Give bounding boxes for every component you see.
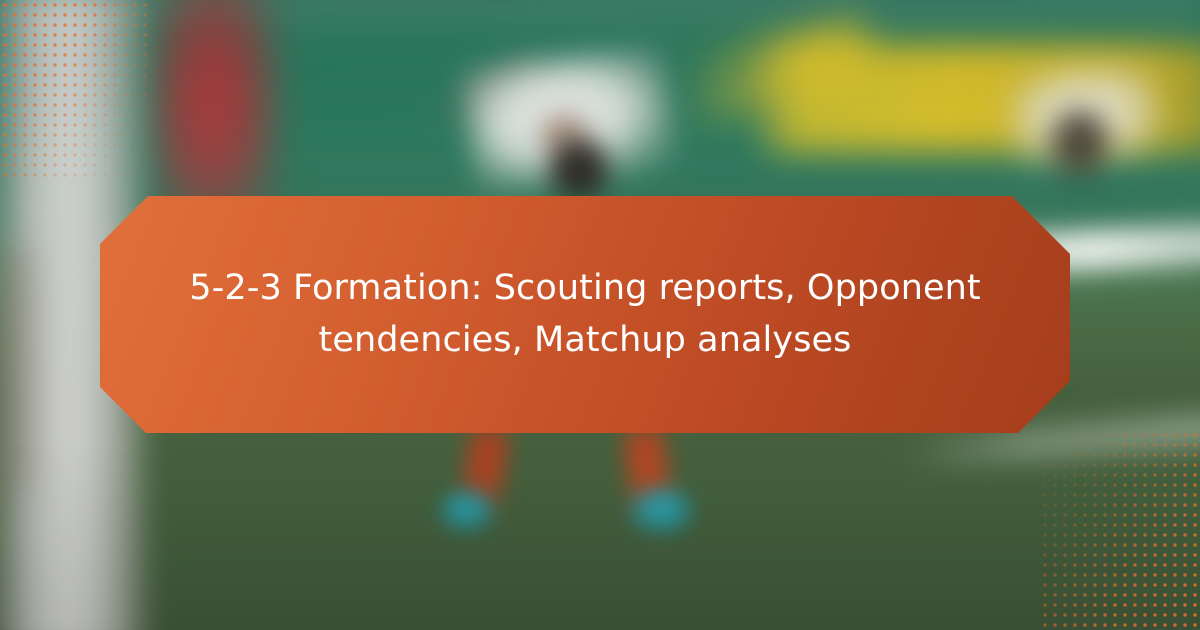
title-banner: 5-2-3 Formation: Scouting reports, Oppon… (100, 196, 1070, 433)
page-title: 5-2-3 Formation: Scouting reports, Oppon… (185, 263, 985, 367)
social-card: 5-2-3 Formation: Scouting reports, Oppon… (0, 0, 1200, 630)
